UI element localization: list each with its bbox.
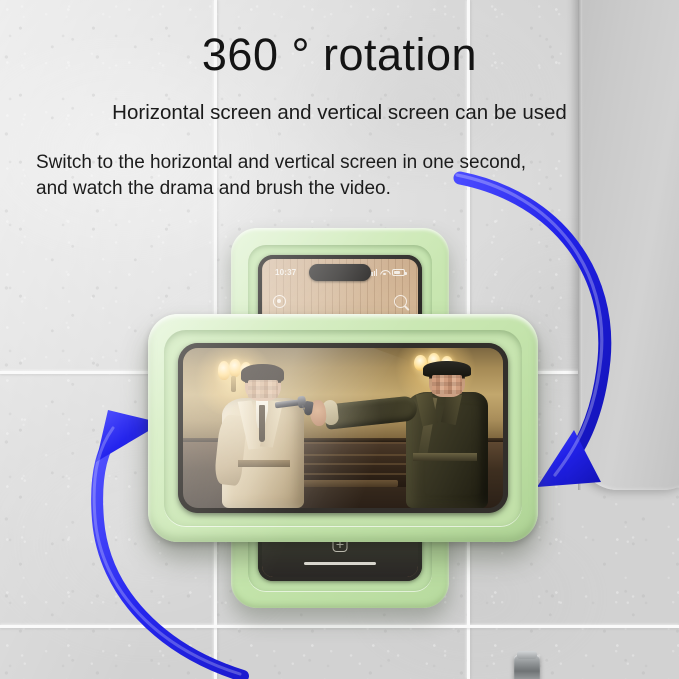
left-man-figure <box>218 367 308 508</box>
camera-lens-icon[interactable] <box>273 295 286 308</box>
wifi-icon <box>380 269 389 276</box>
battery-icon <box>392 269 405 276</box>
fixture-cap <box>517 651 537 659</box>
left-man-tie <box>259 405 265 442</box>
grout-line-horizontal-2 <box>0 625 679 628</box>
right-man-figure <box>394 362 490 508</box>
right-man-belt <box>413 453 476 462</box>
page-subtitle: Horizontal screen and vertical screen ca… <box>0 101 679 125</box>
horizontal-phone-screen <box>183 348 503 508</box>
header-block: 360 ° rotation Horizontal screen and ver… <box>0 0 679 125</box>
home-indicator <box>304 562 376 565</box>
revolver-icon <box>274 392 314 415</box>
description-line-2: and watch the drama and brush the video. <box>36 176 656 202</box>
horizontal-phone <box>178 343 508 513</box>
status-bar-time: 10:37 <box>275 268 296 277</box>
status-bar-icons <box>369 269 405 276</box>
dynamic-island <box>309 264 371 281</box>
chrome-wall-fixture <box>514 655 540 679</box>
description-text: Switch to the horizontal and vertical sc… <box>36 150 656 202</box>
page-title: 360 ° rotation <box>0 32 679 77</box>
left-man-belt <box>238 460 290 467</box>
product-scene: 360 ° rotation Horizontal screen and ver… <box>0 0 679 679</box>
right-man-face-pixelation <box>432 375 463 394</box>
description-line-1: Switch to the horizontal and vertical sc… <box>36 150 656 176</box>
search-icon[interactable] <box>394 295 407 308</box>
horizontal-phone-holder[interactable] <box>148 314 538 542</box>
